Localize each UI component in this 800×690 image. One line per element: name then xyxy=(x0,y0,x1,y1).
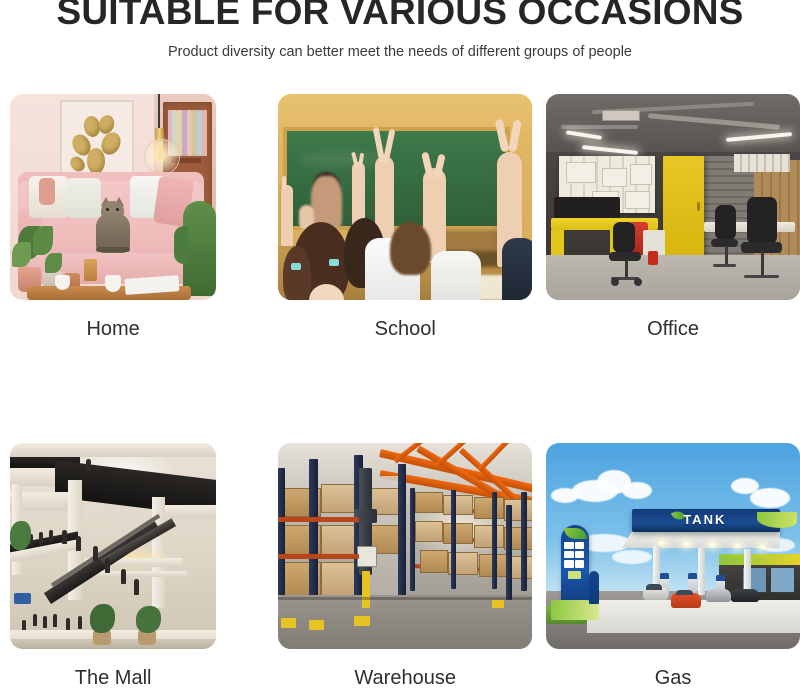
occasion-card-mall[interactable]: The Mall xyxy=(8,443,218,690)
page-subtitle: Product diversity can better meet the ne… xyxy=(0,30,800,61)
occasions-row-bottom: The Mall xyxy=(0,443,800,690)
header: SUITABLE FOR VARIOUS OCCASIONS Product d… xyxy=(0,0,800,61)
occasion-label-warehouse: Warehouse xyxy=(354,649,456,690)
occasion-label-gas: Gas xyxy=(655,649,692,690)
occasion-card-gas[interactable]: TANK xyxy=(546,443,800,690)
home-thumbnail xyxy=(10,94,216,300)
page-title: SUITABLE FOR VARIOUS OCCASIONS xyxy=(0,0,800,30)
occasion-card-office[interactable]: Office xyxy=(546,94,800,341)
occasion-label-mall: The Mall xyxy=(75,649,152,690)
occasion-label-office: Office xyxy=(647,300,699,341)
occasion-card-home[interactable]: Home xyxy=(8,94,218,341)
promo-page: SUITABLE FOR VARIOUS OCCASIONS Product d… xyxy=(0,0,800,650)
occasion-label-home: Home xyxy=(86,300,139,341)
office-thumbnail xyxy=(546,94,800,300)
gas-canopy-brand: TANK xyxy=(683,512,726,527)
warehouse-thumbnail xyxy=(278,443,532,649)
occasion-label-school: School xyxy=(375,300,436,341)
gas-thumbnail: TANK xyxy=(546,443,800,649)
school-thumbnail xyxy=(278,94,532,300)
occasions-grid: Home xyxy=(0,94,800,690)
mall-thumbnail xyxy=(10,443,216,649)
occasions-row-top: Home xyxy=(0,94,800,341)
occasion-card-warehouse[interactable]: Warehouse xyxy=(278,443,532,690)
occasion-card-school[interactable]: School xyxy=(278,94,532,341)
